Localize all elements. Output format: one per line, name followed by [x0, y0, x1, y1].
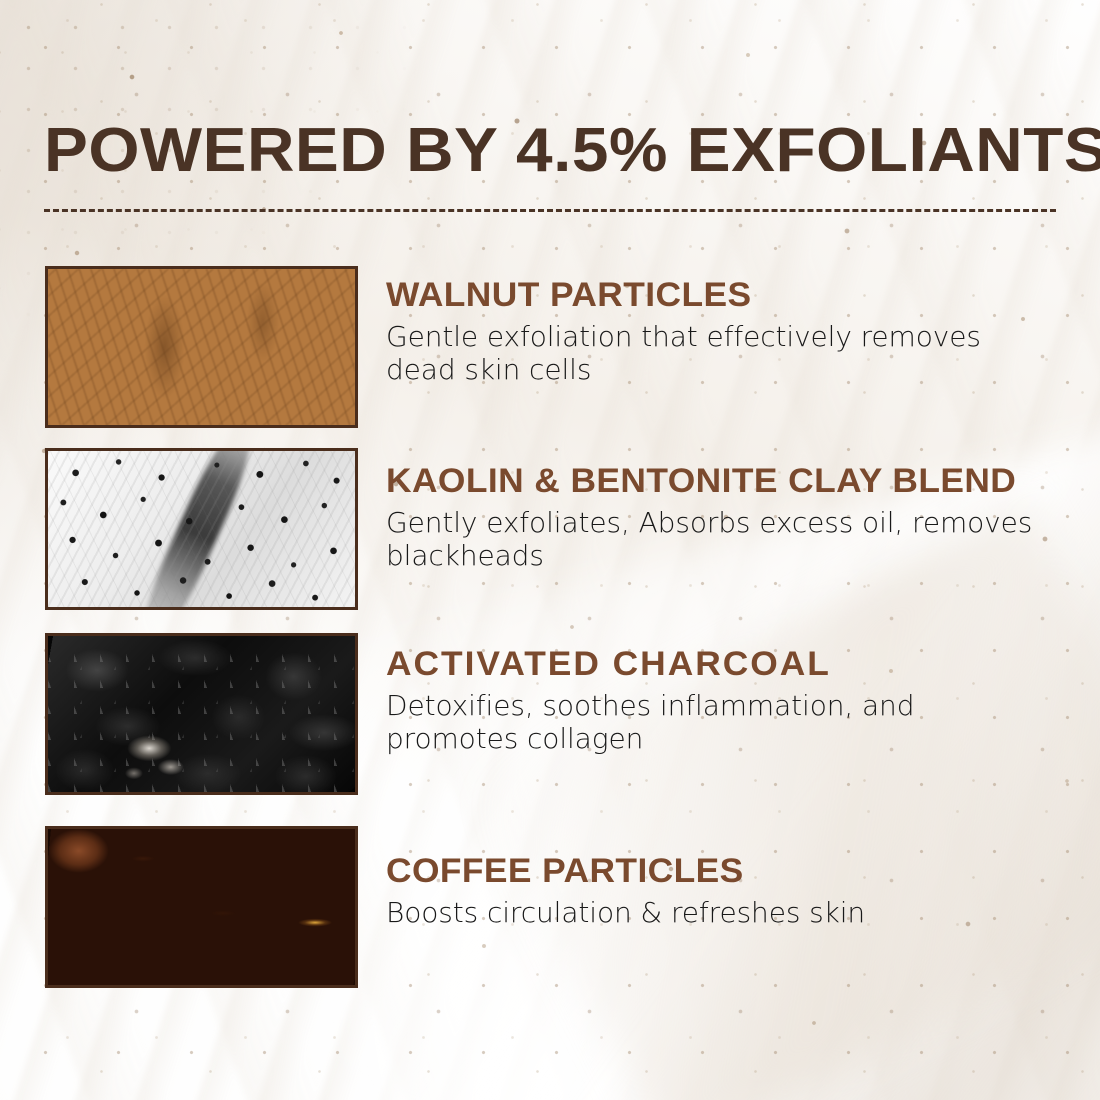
ingredients-infographic: POWERED BY 4.5% EXFOLIANTS WALNUT PARTIC… [0, 0, 1100, 1100]
ingredient-title: WALNUT PARTICLES [386, 276, 1082, 314]
ingredient-description: Gentle exfoliation that effectively remo… [386, 320, 1055, 386]
ingredient-row: WALNUT PARTICLES Gentle exfoliation that… [45, 266, 1055, 428]
page-title: POWERED BY 4.5% EXFOLIANTS [44, 120, 1100, 182]
ingredient-text: ACTIVATED CHARCOAL Detoxifies, soothes i… [358, 633, 1055, 755]
coffee-texture [48, 829, 355, 985]
ingredient-title: COFFEE PARTICLES [386, 852, 1082, 890]
ingredient-title: KAOLIN & BENTONITE CLAY BLEND [386, 462, 1082, 500]
charcoal-texture [48, 636, 355, 792]
title-divider [44, 209, 1056, 212]
walnut-particles-photo [45, 266, 358, 428]
ingredient-text: KAOLIN & BENTONITE CLAY BLEND Gently exf… [358, 448, 1055, 572]
activated-charcoal-photo [45, 633, 358, 795]
ingredient-title: ACTIVATED CHARCOAL [386, 645, 1082, 683]
ingredient-row: KAOLIN & BENTONITE CLAY BLEND Gently exf… [45, 448, 1055, 610]
ingredient-text: COFFEE PARTICLES Boosts circulation & re… [358, 826, 1055, 929]
coffee-particles-photo [45, 826, 358, 988]
ingredient-text: WALNUT PARTICLES Gentle exfoliation that… [358, 266, 1055, 386]
ingredient-description: Boosts circulation & refreshes skin [386, 896, 1055, 929]
poster-content: POWERED BY 4.5% EXFOLIANTS WALNUT PARTIC… [0, 0, 1100, 1100]
ingredient-description: Detoxifies, soothes inflammation, and pr… [386, 689, 1055, 755]
kaolin-bentonite-clay-photo [45, 448, 358, 610]
ingredient-row: COFFEE PARTICLES Boosts circulation & re… [45, 826, 1055, 988]
clay-texture [48, 451, 355, 607]
ingredient-description: Gently exfoliates, Absorbs excess oil, r… [386, 506, 1055, 572]
ingredient-row: ACTIVATED CHARCOAL Detoxifies, soothes i… [45, 633, 1055, 795]
walnut-texture [48, 269, 355, 425]
